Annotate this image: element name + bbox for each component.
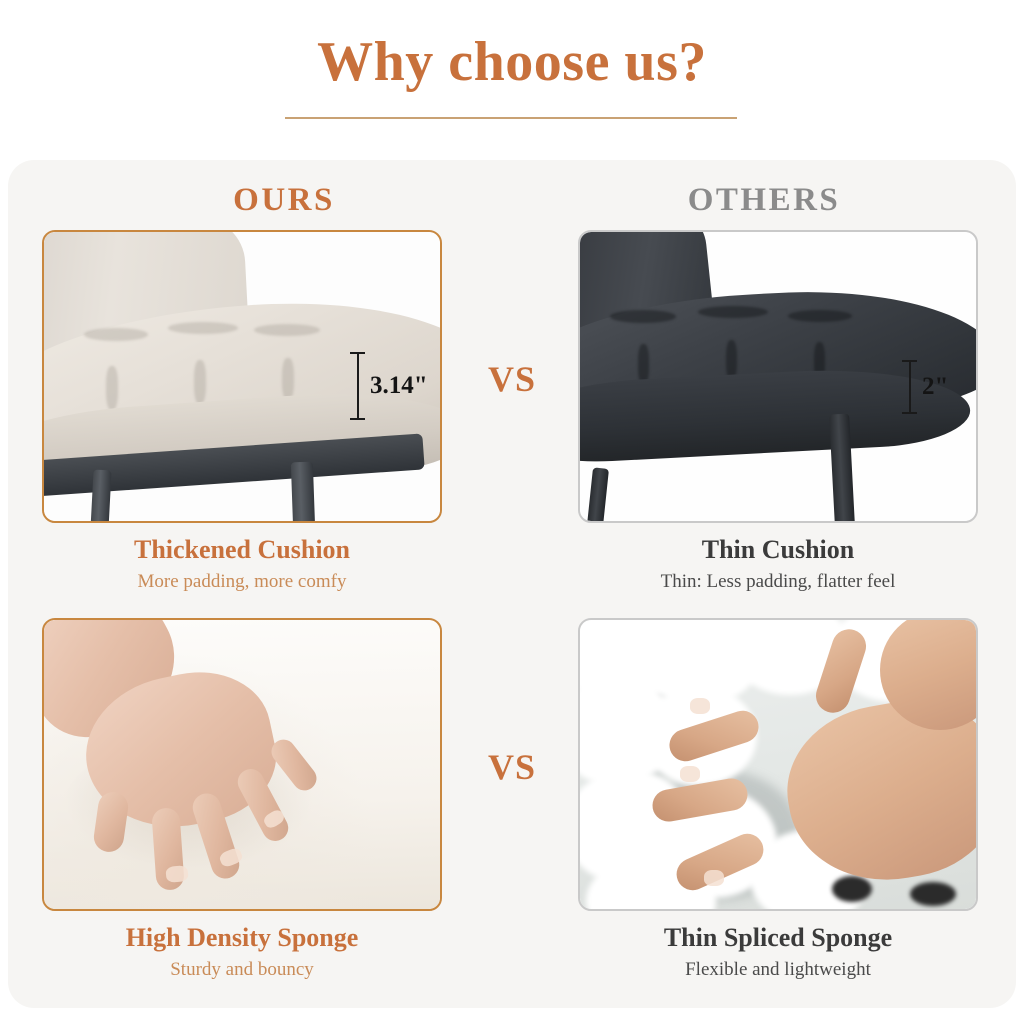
dimension-label-ours: 3.14" — [370, 372, 428, 400]
caption-others-sponge: Thin Spliced Sponge Flexible and lightwe… — [578, 911, 978, 983]
photo-thickened-cushion: 3.14" — [42, 230, 442, 523]
dimension-marker-others: 2" — [902, 360, 948, 414]
caption-subtitle: Sturdy and bouncy — [42, 955, 442, 984]
dimension-marker-ours: 3.14" — [350, 352, 428, 420]
caption-title: High Density Sponge — [42, 922, 442, 955]
caption-title: Thin Cushion — [578, 534, 978, 567]
cell-others-sponge: Thin Spliced Sponge Flexible and lightwe… — [578, 618, 982, 983]
comparison-row-cushion: 3.14" Thickened Cushion More padding, mo… — [8, 230, 1016, 600]
cell-ours-cushion: 3.14" Thickened Cushion More padding, mo… — [42, 230, 446, 595]
hand-on-fiberfill-photo — [580, 620, 976, 909]
caption-ours-sponge: High Density Sponge Sturdy and bouncy — [42, 911, 442, 983]
vs-separator-sponge: VS — [460, 746, 564, 788]
column-header-ours: OURS — [104, 182, 464, 219]
page-title: Why choose us? — [0, 0, 1024, 92]
caption-title: Thickened Cushion — [42, 534, 442, 567]
vs-separator-cushion: VS — [460, 358, 564, 400]
caption-subtitle: More padding, more comfy — [42, 567, 442, 596]
page-header: Why choose us? — [0, 0, 1024, 150]
caption-subtitle: Thin: Less padding, flatter feel — [578, 567, 978, 596]
comparison-row-sponge: High Density Sponge Sturdy and bouncy VS — [8, 618, 1016, 988]
caption-subtitle: Flexible and lightweight — [578, 955, 978, 984]
photo-high-density-sponge — [42, 618, 442, 911]
dimension-line-icon — [350, 352, 365, 420]
column-header-others: OTHERS — [564, 182, 964, 219]
caption-title: Thin Spliced Sponge — [578, 922, 978, 955]
title-underline-rule — [285, 117, 737, 119]
comparison-panel: OURS OTHERS — [8, 160, 1016, 1008]
hand-on-foam-photo — [44, 620, 440, 909]
photo-thin-spliced-sponge — [578, 618, 978, 911]
caption-others-cushion: Thin Cushion Thin: Less padding, flatter… — [578, 523, 978, 595]
caption-ours-cushion: Thickened Cushion More padding, more com… — [42, 523, 442, 595]
dimension-line-icon — [902, 360, 917, 414]
cell-ours-sponge: High Density Sponge Sturdy and bouncy — [42, 618, 446, 983]
cell-others-cushion: 2" Thin Cushion Thin: Less padding, flat… — [578, 230, 982, 595]
photo-thin-cushion: 2" — [578, 230, 978, 523]
dimension-label-others: 2" — [922, 373, 948, 401]
